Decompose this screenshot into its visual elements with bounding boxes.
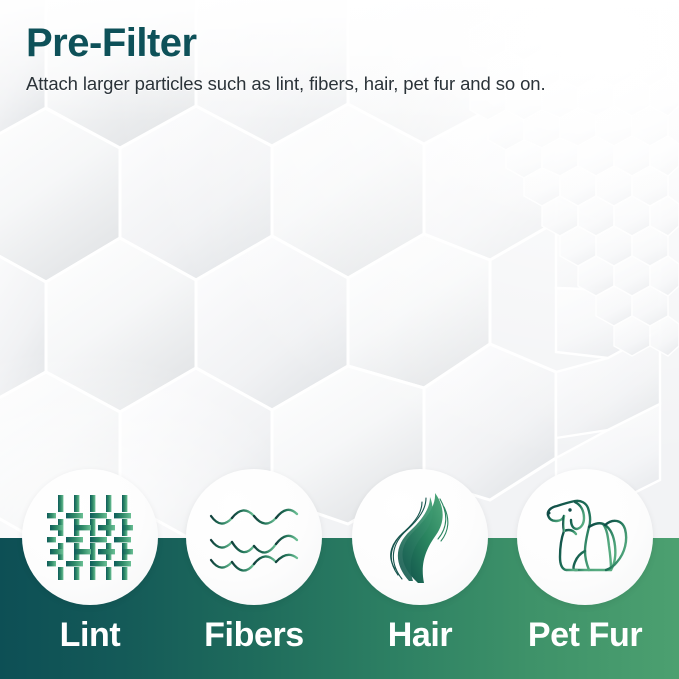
feature-circle — [186, 469, 322, 605]
feature-item-lint: Lint — [22, 469, 158, 679]
feature-item-pet-fur: Pet Fur — [517, 469, 653, 679]
dog-outline-icon — [537, 491, 633, 583]
feature-item-hair: Hair — [352, 469, 488, 679]
woven-mesh-icon — [47, 494, 133, 580]
dog-eye-icon — [568, 508, 571, 511]
feature-circle — [352, 469, 488, 605]
feature-circle — [22, 469, 158, 605]
infographic-panel: Pre-Filter Attach larger particles such … — [0, 0, 679, 679]
feature-label-pet-fur: Pet Fur — [477, 615, 679, 655]
hair-strands-icon — [378, 489, 462, 585]
feature-item-fibers: Fibers — [186, 469, 322, 679]
feature-row: Lint — [0, 0, 679, 679]
fiber-strands-icon — [209, 494, 299, 580]
feature-circle — [517, 469, 653, 605]
dog-nose-icon — [548, 512, 551, 515]
